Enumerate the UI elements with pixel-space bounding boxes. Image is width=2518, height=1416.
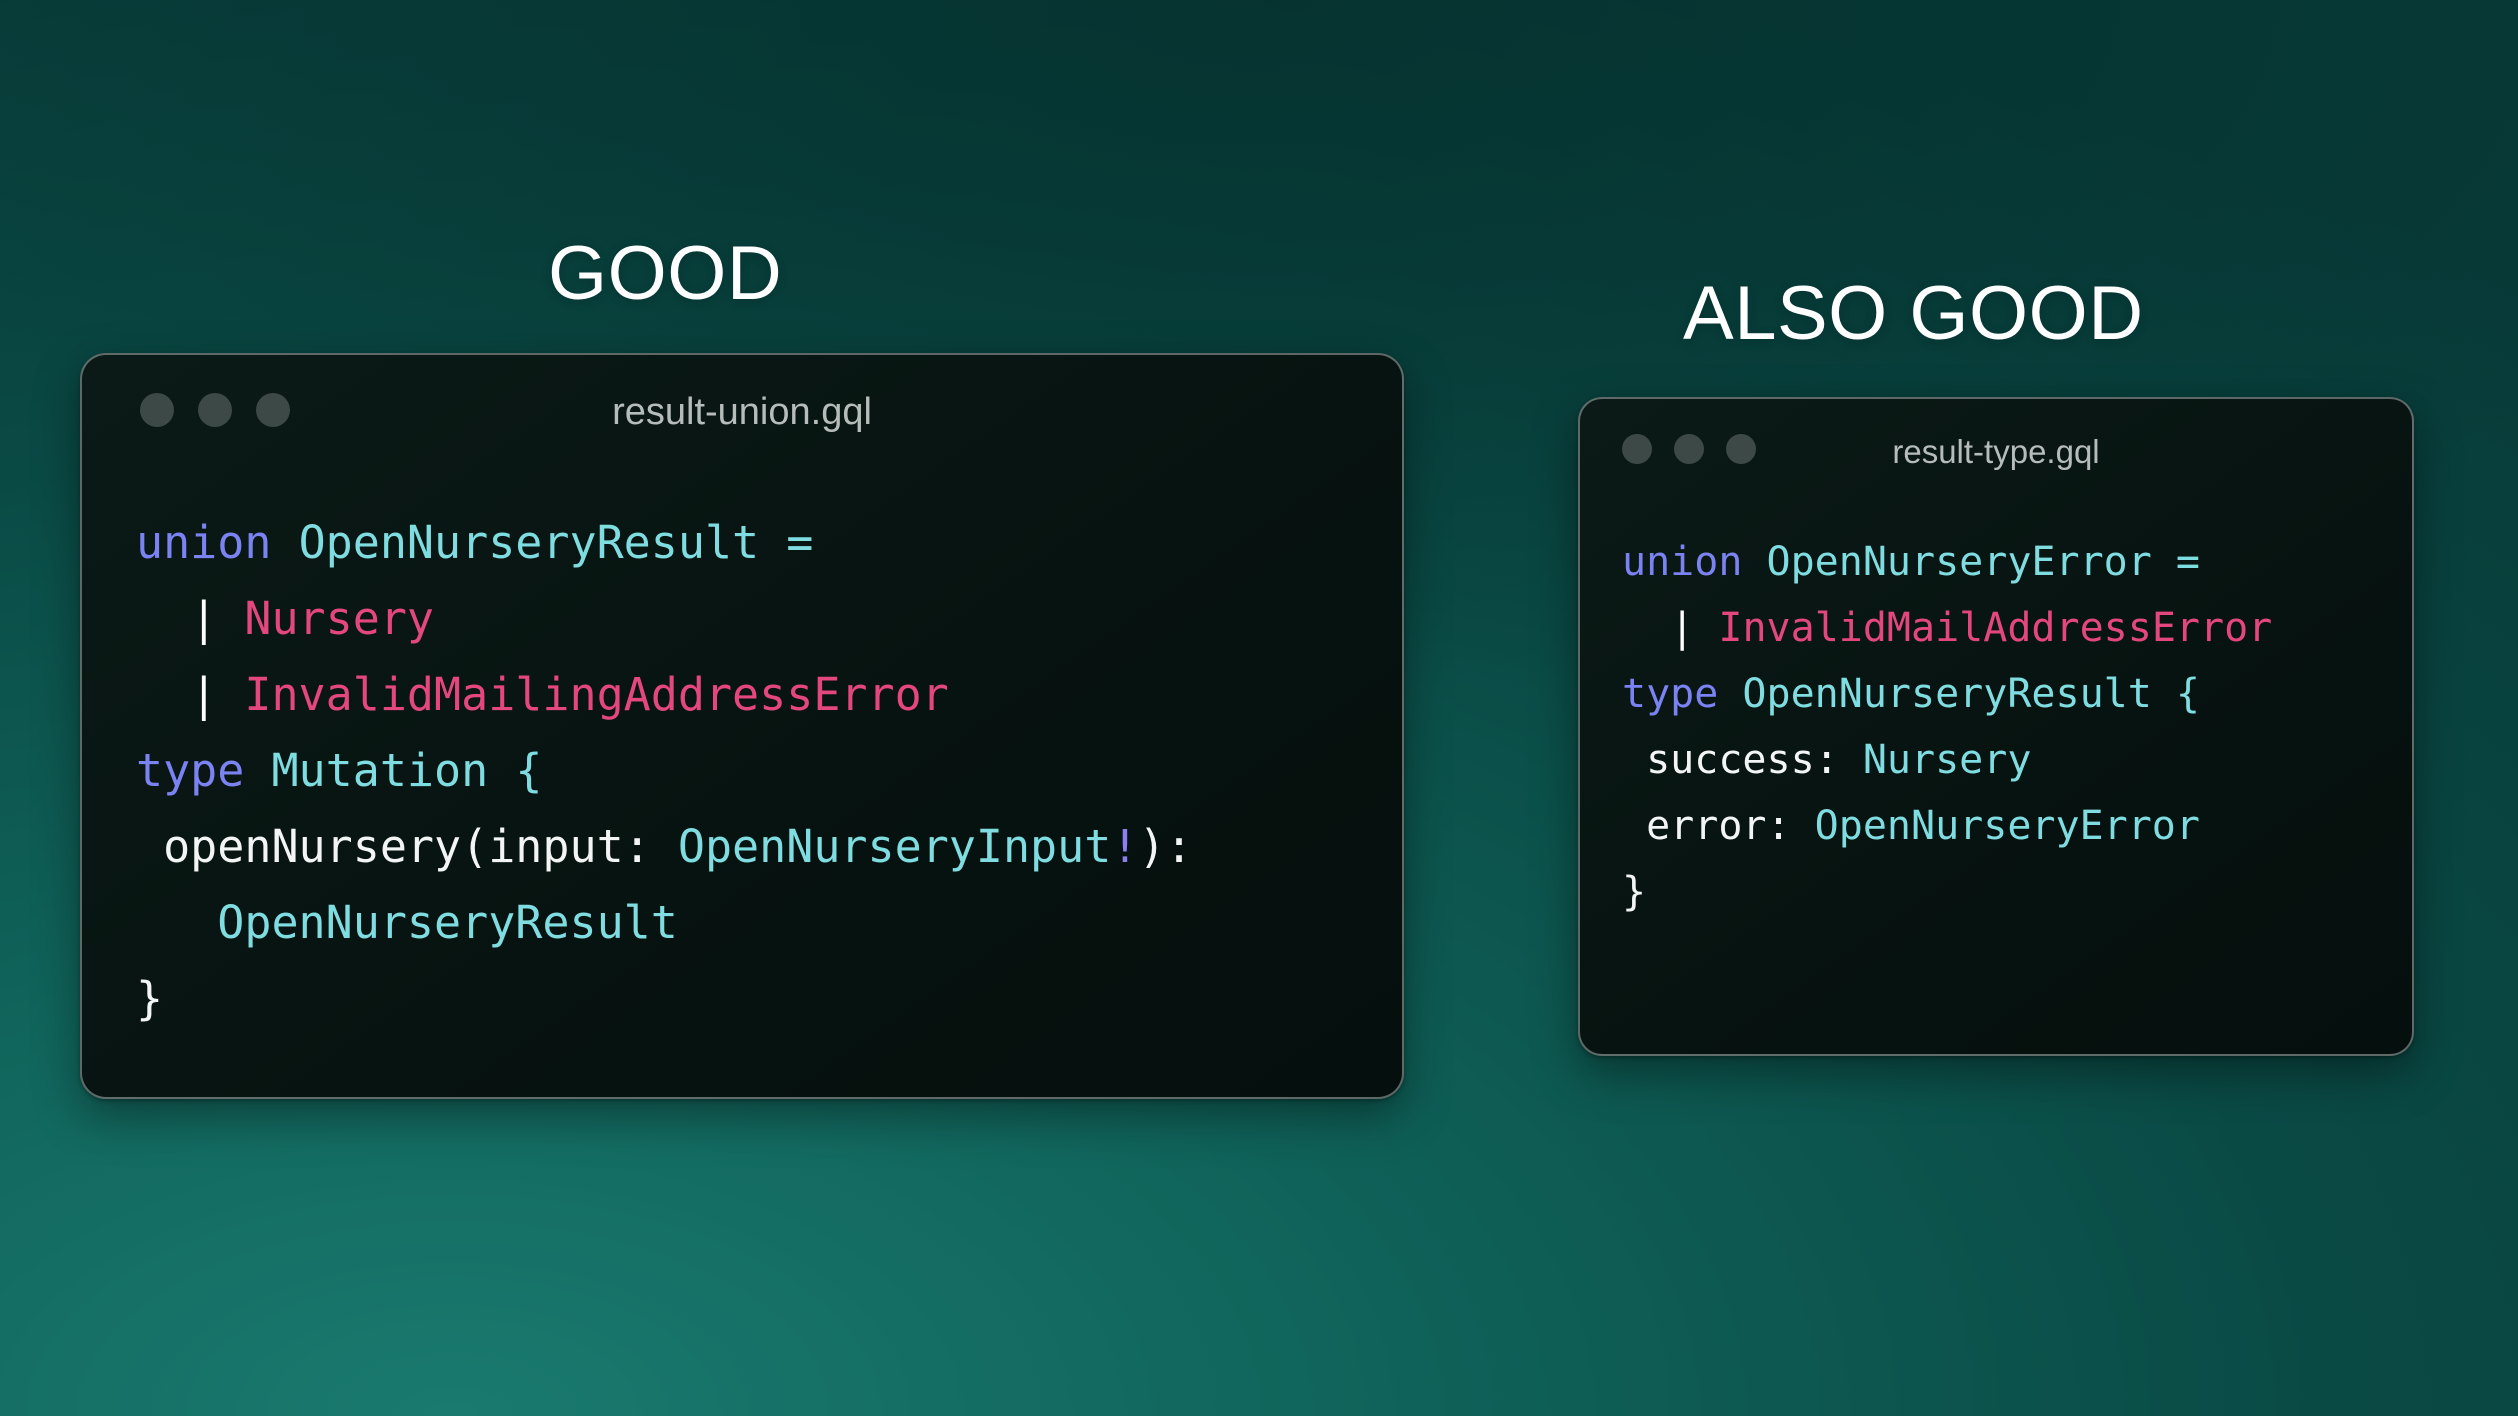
code-token: | <box>1670 605 1694 651</box>
code-line: success: Nursery <box>1622 727 2272 793</box>
code-token: OpenNurseryError <box>1767 539 2152 585</box>
code-token: type <box>136 744 244 797</box>
code-token: ): <box>1138 820 1192 873</box>
code-token: Mutation <box>271 744 488 797</box>
code-token: | <box>190 668 217 721</box>
code-token: InvalidMailingAddressError <box>244 668 948 721</box>
code-token <box>136 668 190 721</box>
panel-heading-also-good: ALSO GOOD <box>1683 272 2144 356</box>
window-titlebar-also-good: result-type.gql <box>1580 399 2412 475</box>
code-window-good: result-union.gql union OpenNurseryResult… <box>80 353 1404 1099</box>
code-token <box>217 668 244 721</box>
code-token <box>759 516 786 569</box>
code-token <box>1694 605 1718 651</box>
code-token: Nursery <box>1863 737 2032 783</box>
code-token <box>2152 539 2176 585</box>
code-token: OpenNurseryResult <box>217 896 678 949</box>
code-line: openNursery(input: OpenNurseryInput!): <box>136 809 1193 885</box>
code-token <box>217 592 244 645</box>
code-token: openNursery(input: <box>136 820 678 873</box>
window-filename-also-good: result-type.gql <box>1580 433 2412 471</box>
code-block-also-good[interactable]: union OpenNurseryError = | InvalidMailAd… <box>1622 529 2272 925</box>
code-line: error: OpenNurseryError <box>1622 793 2272 859</box>
code-token: } <box>136 972 163 1025</box>
window-titlebar-good: result-union.gql <box>82 355 1402 431</box>
code-line: OpenNurseryResult <box>136 885 1193 961</box>
code-token <box>1718 671 1742 717</box>
code-token: { <box>2176 671 2200 717</box>
code-token <box>488 744 515 797</box>
code-block-good[interactable]: union OpenNurseryResult = | Nursery | In… <box>136 505 1193 1037</box>
code-token <box>244 744 271 797</box>
code-token <box>136 896 217 949</box>
code-token: OpenNurseryResult <box>1742 671 2151 717</box>
window-filename-good: result-union.gql <box>82 391 1402 434</box>
code-token: } <box>1622 869 1646 915</box>
code-token: = <box>786 516 813 569</box>
code-line: | InvalidMailAddressError <box>1622 595 2272 661</box>
code-token: type <box>1622 671 1718 717</box>
code-line: type Mutation { <box>136 733 1193 809</box>
code-token: OpenNurseryResult <box>299 516 760 569</box>
code-line: } <box>1622 859 2272 925</box>
panel-heading-good: GOOD <box>548 232 782 316</box>
code-token <box>271 516 298 569</box>
code-token: union <box>1622 539 1742 585</box>
code-token: error: <box>1622 803 1815 849</box>
code-token: = <box>2176 539 2200 585</box>
code-token: OpenNurseryError <box>1815 803 2200 849</box>
code-token: | <box>190 592 217 645</box>
code-line: type OpenNurseryResult { <box>1622 661 2272 727</box>
code-token <box>1622 605 1670 651</box>
code-token <box>2152 671 2176 717</box>
code-window-also-good: result-type.gql union OpenNurseryError =… <box>1578 397 2414 1056</box>
code-token: Nursery <box>244 592 434 645</box>
code-token <box>136 592 190 645</box>
code-token: union <box>136 516 271 569</box>
code-token <box>1742 539 1766 585</box>
code-line: union OpenNurseryError = <box>1622 529 2272 595</box>
code-token: success: <box>1622 737 1863 783</box>
code-line: | Nursery <box>136 581 1193 657</box>
code-line: } <box>136 961 1193 1037</box>
code-line: union OpenNurseryResult = <box>136 505 1193 581</box>
code-token: OpenNurseryInput <box>678 820 1111 873</box>
code-token: InvalidMailAddressError <box>1718 605 2272 651</box>
code-token: { <box>515 744 542 797</box>
code-line: | InvalidMailingAddressError <box>136 657 1193 733</box>
code-token: ! <box>1111 820 1138 873</box>
